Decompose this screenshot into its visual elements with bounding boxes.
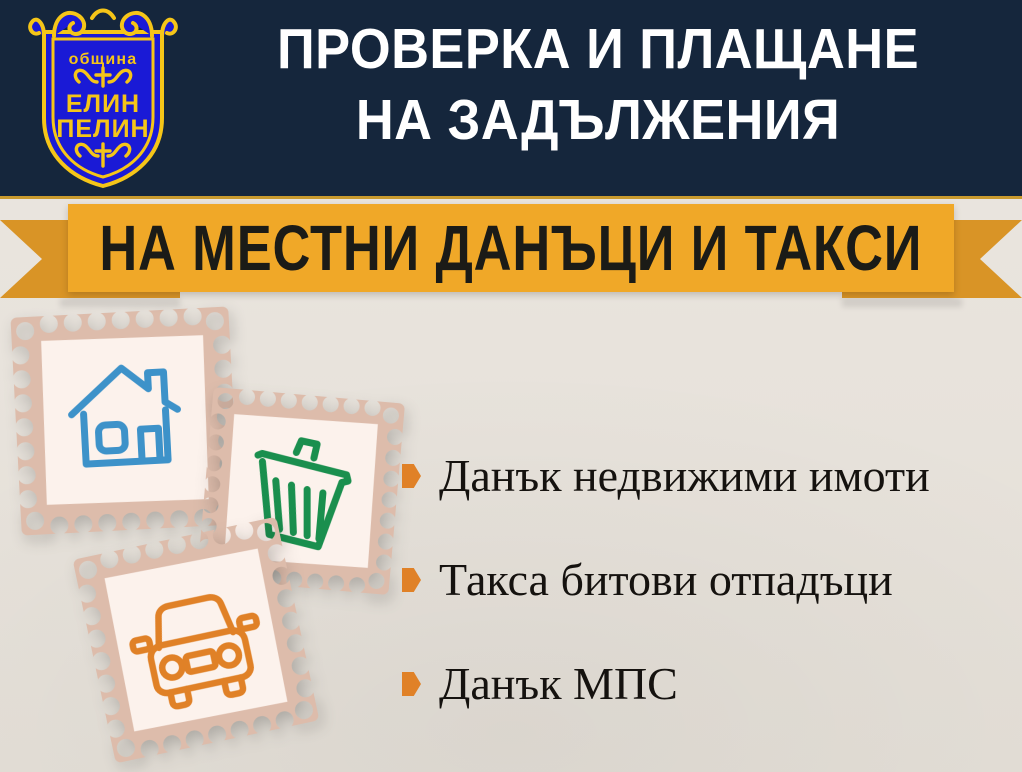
coat-of-arms-logo: община ЕЛИН ПЕЛИН bbox=[22, 6, 184, 192]
svg-text:ЕЛИН: ЕЛИН bbox=[66, 90, 140, 118]
list-item-label: Данък МПС bbox=[439, 658, 678, 710]
page-title: ПРОВЕРКА И ПЛАЩАНЕ НА ЗАДЪЛЖЕНИЯ bbox=[186, 14, 1010, 156]
ribbon-label: НА МЕСТНИ ДАНЪЦИ И ТАКСИ bbox=[100, 216, 923, 280]
ribbon-shadow-left bbox=[60, 298, 180, 307]
list-item-label: Данък недвижими имоти bbox=[439, 450, 930, 502]
svg-text:ПЕЛИН: ПЕЛИН bbox=[56, 115, 149, 143]
arrow-bullet-icon bbox=[402, 464, 421, 488]
list-item[interactable]: Такса битови отпадъци bbox=[402, 528, 1012, 632]
title-line-1: ПРОВЕРКА И ПЛАЩАНЕ bbox=[219, 14, 977, 85]
stamp-vehicle-car bbox=[73, 517, 320, 764]
list-item-label: Такса битови отпадъци bbox=[439, 554, 893, 606]
arrow-bullet-icon bbox=[402, 672, 421, 696]
arrow-bullet-icon bbox=[402, 568, 421, 592]
poster-canvas: община ЕЛИН ПЕЛИН ПРОВЕРКА И ПЛАЩАНЕ НА … bbox=[0, 0, 1022, 772]
list-item[interactable]: Данък МПС bbox=[402, 632, 1012, 736]
list-item[interactable]: Данък недвижими имоти bbox=[402, 424, 1012, 528]
ribbon-main-panel: НА МЕСТНИ ДАНЪЦИ И ТАКСИ bbox=[68, 204, 954, 292]
ribbon-shadow-right bbox=[842, 298, 962, 307]
ribbon-banner: НА МЕСТНИ ДАНЪЦИ И ТАКСИ bbox=[0, 198, 1022, 308]
svg-text:община: община bbox=[69, 51, 138, 68]
tax-type-list: Данък недвижими имоти Такса битови отпад… bbox=[402, 424, 1012, 736]
title-line-2: НА ЗАДЪЛЖЕНИЯ bbox=[219, 85, 977, 156]
